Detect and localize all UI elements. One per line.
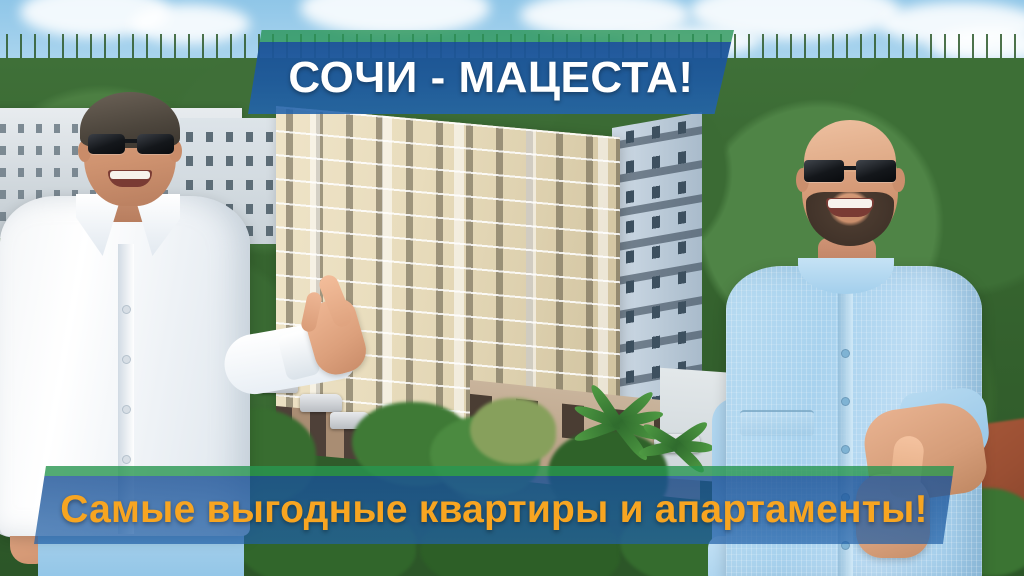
thumbnail-canvas: СОЧИ - МАЦЕСТА! Самые выгодные квартиры … (0, 0, 1024, 576)
title-banner-accent-stripe (248, 30, 734, 42)
title-banner: СОЧИ - МАЦЕСТА! (248, 30, 734, 114)
sunglasses-icon (804, 160, 896, 184)
sunglasses-icon (88, 134, 174, 156)
shirt-button (842, 398, 849, 405)
smiling-mouth (108, 170, 152, 187)
shirt-button (842, 350, 849, 357)
shirt-button (123, 456, 130, 463)
shirt-pocket (740, 410, 814, 436)
subtitle-text: Самые выгодные квартиры и апартаменты! (34, 476, 954, 544)
shirt-button (123, 406, 130, 413)
subtitle-banner-accent-stripe (34, 466, 954, 476)
smiling-mouth (826, 198, 874, 217)
shirt-button (123, 356, 130, 363)
subtitle-banner: Самые выгодные квартиры и апартаменты! (34, 466, 954, 544)
shrub (470, 398, 556, 464)
shirt-button (123, 306, 130, 313)
page-title: СОЧИ - МАЦЕСТА! (248, 42, 734, 114)
shirt-button (842, 446, 849, 453)
